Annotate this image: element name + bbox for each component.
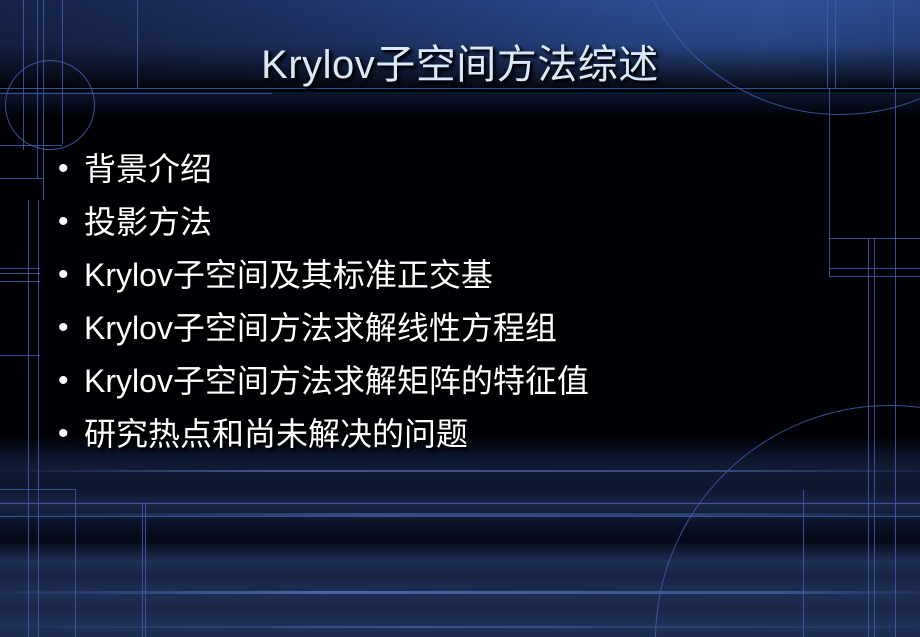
slide-title: Krylov子空间方法综述 [0,41,920,89]
decor-hline [0,268,40,269]
decor-hline [0,178,44,179]
bullet-point-icon: • [58,252,84,298]
list-item-label: Krylov子空间及其标准正交基 [84,252,493,298]
list-item: • 投影方法 [58,199,898,252]
decor-vline [37,0,38,178]
list-item: • 研究热点和尚未解决的问题 [58,411,898,464]
decor-vline [145,503,146,637]
decor-hline [0,281,40,282]
decor-hline [0,489,76,490]
decor-vline [142,503,143,637]
decor-vline [43,0,44,200]
list-item-label: 背景介绍 [84,146,212,192]
decor-hline [0,145,63,146]
decor-hline [0,355,40,356]
decor-vline [38,200,39,637]
decor-hline [460,503,920,504]
decor-hline [0,503,460,504]
list-item-label: Krylov子空间方法求解矩阵的特征值 [84,358,589,404]
decor-vline [803,490,804,637]
bullet-point-icon: • [58,305,84,351]
bullet-point-icon: • [58,411,84,457]
list-item-label: 投影方法 [84,199,212,245]
list-item: • 背景介绍 [58,146,898,199]
decor-vline [28,200,29,637]
list-item: • Krylov子空间及其标准正交基 [58,252,898,305]
decor-vline [75,489,76,637]
list-item: • Krylov子空间方法求解线性方程组 [58,305,898,358]
bullet-point-icon: • [58,146,84,192]
bullet-point-icon: • [58,358,84,404]
list-item: • Krylov子空间方法求解矩阵的特征值 [58,358,898,411]
presentation-slide: Krylov子空间方法综述 • 背景介绍 • 投影方法 • Krylov子空间及… [0,0,920,637]
decor-hline [0,93,272,94]
decor-hline [0,273,40,274]
bullet-list: • 背景介绍 • 投影方法 • Krylov子空间及其标准正交基 • Krylo… [58,146,898,464]
list-item-label: 研究热点和尚未解决的问题 [84,411,468,457]
list-item-label: Krylov子空间方法求解线性方程组 [84,305,557,351]
bullet-point-icon: • [58,199,84,245]
